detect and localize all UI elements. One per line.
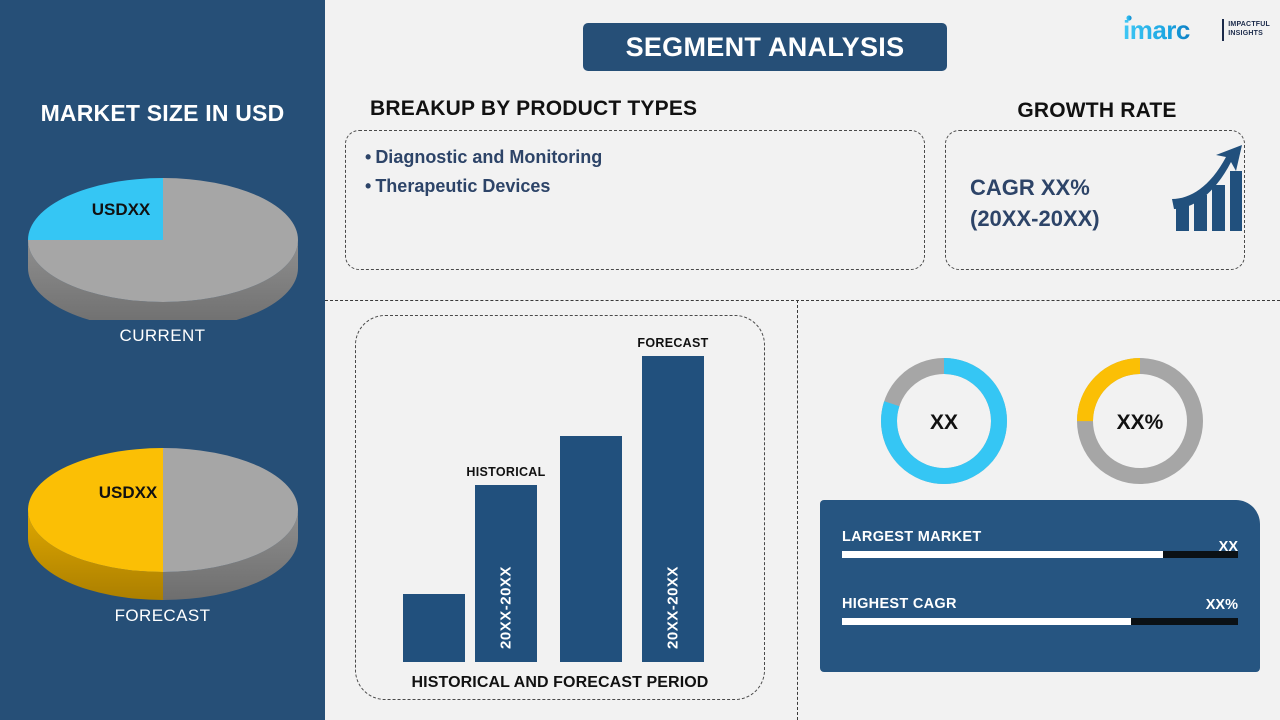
main-canvas: SEGMENT ANALYSIS imarc bbox=[325, 0, 1280, 720]
bar-top-label: FORECAST bbox=[637, 336, 708, 350]
growth-heading: GROWTH RATE bbox=[942, 99, 1252, 123]
vertical-divider bbox=[797, 300, 798, 720]
forecast-pie-chart: USDXX FORECAST bbox=[0, 430, 325, 626]
donut-center-label: XX% bbox=[1117, 411, 1164, 434]
current-pie-chart: USDXX CURRENT bbox=[0, 160, 325, 346]
donut-center-label: XX bbox=[930, 411, 958, 434]
svg-text:imarc: imarc bbox=[1123, 15, 1190, 44]
forecast-pie-caption: FORECAST bbox=[0, 606, 325, 626]
imarc-wordmark-icon: imarc bbox=[1123, 12, 1218, 48]
logo-tagline-line2: INSIGHTS bbox=[1228, 30, 1270, 39]
metric-progress-fill bbox=[842, 618, 1131, 625]
bar-3 bbox=[560, 436, 622, 662]
logo-divider bbox=[1222, 19, 1224, 41]
current-pie-svg: USDXX bbox=[18, 160, 308, 320]
sidebar: MARKET SIZE IN USD USDXX CURRENT bbox=[0, 0, 325, 720]
list-item-label: Diagnostic and Monitoring bbox=[375, 147, 602, 167]
list-item: •Therapeutic Devices bbox=[365, 172, 905, 201]
bar-value-label: 20XX-20XX bbox=[498, 566, 515, 649]
imarc-logo: imarc IMPACTFUL INSIGHTS bbox=[1123, 12, 1270, 48]
metric-largest-market: LARGEST MARKET XX bbox=[842, 528, 1238, 558]
metric-title: LARGEST MARKET bbox=[842, 529, 982, 545]
historical-forecast-barchart: HISTORICAL 20XX-20XX FORECAST 20XX-20XX … bbox=[355, 315, 765, 700]
bullet-icon: • bbox=[365, 147, 371, 167]
page-title: SEGMENT ANALYSIS bbox=[583, 23, 947, 71]
metric-title: HIGHEST CAGR bbox=[842, 596, 957, 612]
current-pie-caption: CURRENT bbox=[0, 326, 325, 346]
breakup-heading: BREAKUP BY PRODUCT TYPES bbox=[370, 97, 697, 121]
breakup-list: •Diagnostic and Monitoring •Therapeutic … bbox=[365, 143, 905, 201]
metric-progress-fill bbox=[842, 551, 1163, 558]
barchart-caption: HISTORICAL AND FORECAST PERIOD bbox=[355, 674, 765, 692]
cagr-line-1: CAGR XX% bbox=[970, 172, 1100, 203]
bar-4: FORECAST 20XX-20XX bbox=[642, 356, 704, 662]
bullet-icon: • bbox=[365, 176, 371, 196]
horizontal-divider bbox=[325, 300, 1280, 301]
metric-value: XX% bbox=[1206, 597, 1238, 613]
donut-row: XX XX% bbox=[815, 350, 1270, 495]
largest-market-donut: XX bbox=[873, 350, 1015, 497]
bar-value-label: 20XX-20XX bbox=[665, 566, 682, 649]
cagr-line-2: (20XX-20XX) bbox=[970, 203, 1100, 234]
current-pie-slice-label: USDXX bbox=[91, 200, 150, 219]
bar-1 bbox=[403, 594, 465, 662]
metrics-panel: LARGEST MARKET XX HIGHEST CAGR XX% bbox=[820, 500, 1260, 672]
cagr-text: CAGR XX% (20XX-20XX) bbox=[970, 172, 1100, 234]
bar-top-label: HISTORICAL bbox=[466, 465, 545, 479]
logo-tagline: IMPACTFUL INSIGHTS bbox=[1228, 21, 1270, 39]
forecast-pie-svg: USDXX bbox=[18, 430, 308, 600]
logo-tagline-line1: IMPACTFUL bbox=[1228, 21, 1270, 30]
forecast-pie-slice-label: USDXX bbox=[98, 483, 157, 502]
sidebar-title: MARKET SIZE IN USD bbox=[0, 100, 325, 127]
highest-cagr-donut: XX% bbox=[1069, 350, 1211, 497]
metric-highest-cagr: HIGHEST CAGR XX% bbox=[842, 595, 1238, 625]
list-item-label: Therapeutic Devices bbox=[375, 176, 550, 196]
infographic-root: MARKET SIZE IN USD USDXX CURRENT bbox=[0, 0, 1280, 720]
list-item: •Diagnostic and Monitoring bbox=[365, 143, 905, 172]
metric-progress-track bbox=[842, 618, 1238, 625]
growth-arrow-bars-icon bbox=[1170, 143, 1242, 238]
bar-2: HISTORICAL 20XX-20XX bbox=[475, 485, 537, 662]
metric-progress-track bbox=[842, 551, 1238, 558]
